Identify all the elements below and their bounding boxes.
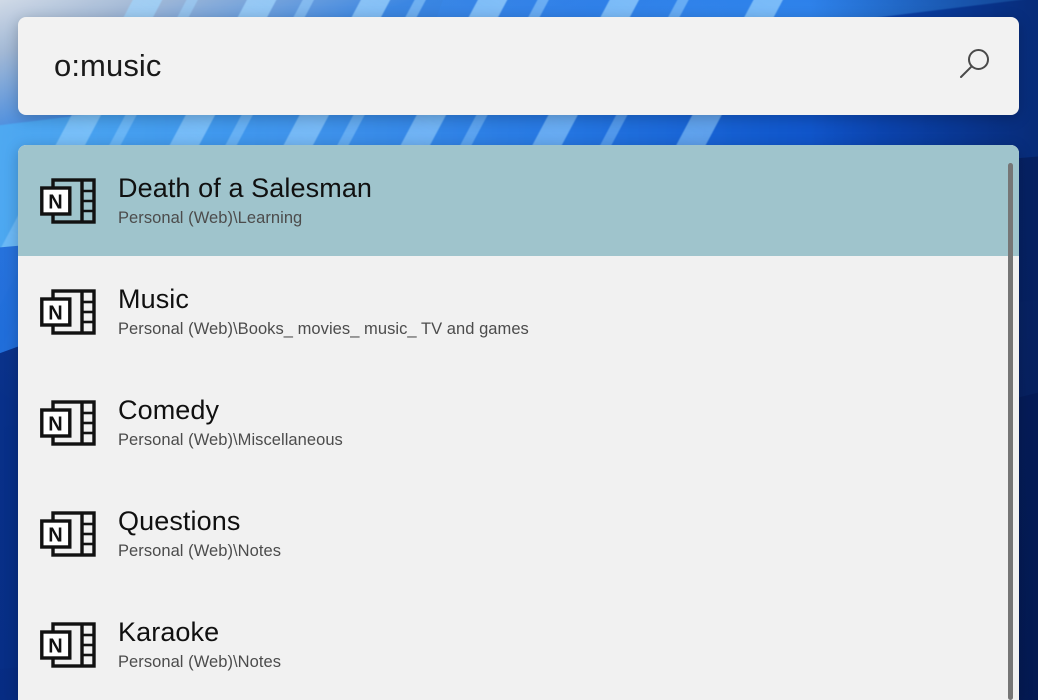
svg-text:N: N: [48, 191, 62, 213]
svg-text:N: N: [48, 413, 62, 435]
svg-text:N: N: [48, 524, 62, 546]
onenote-icon: N: [40, 178, 96, 224]
result-text: Questions Personal (Web)\Notes: [118, 506, 281, 561]
onenote-icon: N: [40, 622, 96, 668]
result-subtitle: Personal (Web)\Learning: [118, 209, 372, 228]
results-scrollbar[interactable]: [1005, 145, 1017, 700]
onenote-icon: N: [40, 400, 96, 446]
results-scrollbar-thumb[interactable]: [1008, 163, 1013, 700]
result-text: Karaoke Personal (Web)\Notes: [118, 617, 281, 672]
result-row-2[interactable]: N Comedy Personal (Web)\Miscellaneous: [18, 367, 1019, 478]
result-row-0[interactable]: N Death of a Salesman Personal (Web)\Lea…: [18, 145, 1019, 256]
result-row-1[interactable]: N Music Personal (Web)\Books_ movies_ mu…: [18, 256, 1019, 367]
onenote-icon: N: [40, 511, 96, 557]
result-title: Comedy: [118, 395, 343, 426]
result-row-4[interactable]: N Karaoke Personal (Web)\Notes: [18, 589, 1019, 700]
result-title: Karaoke: [118, 617, 281, 648]
search-results-panel: N Death of a Salesman Personal (Web)\Lea…: [18, 145, 1019, 700]
onenote-icon: N: [40, 289, 96, 335]
search-box[interactable]: [18, 17, 1019, 115]
result-text: Comedy Personal (Web)\Miscellaneous: [118, 395, 343, 450]
result-subtitle: Personal (Web)\Notes: [118, 542, 281, 561]
result-subtitle: Personal (Web)\Miscellaneous: [118, 431, 343, 450]
result-row-3[interactable]: N Questions Personal (Web)\Notes: [18, 478, 1019, 589]
result-title: Death of a Salesman: [118, 173, 372, 204]
result-text: Death of a Salesman Personal (Web)\Learn…: [118, 173, 372, 228]
result-title: Music: [118, 284, 529, 315]
result-title: Questions: [118, 506, 281, 537]
search-button[interactable]: [929, 17, 1019, 115]
svg-text:N: N: [48, 635, 62, 657]
svg-text:N: N: [48, 302, 62, 324]
result-subtitle: Personal (Web)\Notes: [118, 653, 281, 672]
result-text: Music Personal (Web)\Books_ movies_ musi…: [118, 284, 529, 339]
search-input[interactable]: [18, 48, 929, 84]
desktop-wallpaper: N Death of a Salesman Personal (Web)\Lea…: [0, 0, 1038, 700]
search-results-list: N Death of a Salesman Personal (Web)\Lea…: [18, 145, 1019, 700]
search-icon: [954, 45, 994, 88]
result-subtitle: Personal (Web)\Books_ movies_ music_ TV …: [118, 320, 529, 339]
